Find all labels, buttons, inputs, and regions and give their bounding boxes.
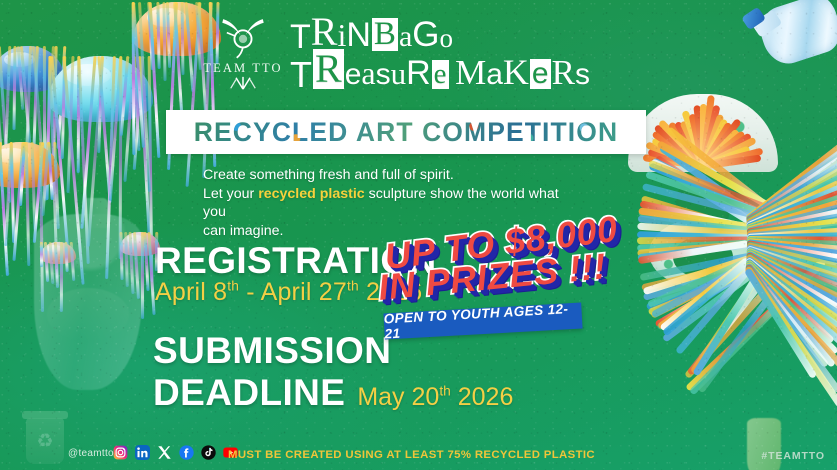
- description-line-2-pre: Let your: [203, 186, 258, 202]
- title-glyph: B: [372, 18, 398, 51]
- plastic-bottle-watermark: [747, 418, 781, 470]
- title-glyph: e: [432, 60, 449, 89]
- submission-date-main: May 20: [357, 383, 439, 411]
- title-glyph: u: [391, 60, 407, 89]
- facebook-icon[interactable]: [179, 445, 194, 460]
- title-glyph: a: [399, 23, 412, 51]
- title-glyph: T: [290, 58, 312, 91]
- social-icons: [113, 445, 238, 460]
- team-tto-logo: TEAM TTO: [200, 16, 286, 90]
- title-glyph: o: [440, 26, 454, 51]
- hashtag-label: #TEAMTTO: [761, 450, 825, 462]
- competition-banner-text: RECYCLED ART COMPETITION: [194, 117, 618, 148]
- submission-date: May 20th 2026: [357, 383, 513, 412]
- title-glyph: s: [575, 61, 590, 89]
- registration-start-suffix: th: [227, 279, 239, 294]
- crushed-bottle-watermark: [34, 214, 142, 390]
- description-highlight: recycled plastic: [258, 186, 364, 202]
- title-line-2: TReasuRe MaKeRs: [290, 49, 620, 89]
- submission-date-year: 2026: [451, 383, 514, 411]
- title-glyph: G: [412, 19, 439, 51]
- tiktok-icon[interactable]: [201, 445, 216, 460]
- title-glyph: s: [376, 61, 391, 89]
- title-glyph: e: [345, 61, 362, 89]
- hummingbird-icon: [216, 16, 270, 60]
- jellyfish-sculpture-artwork: [0, 0, 208, 194]
- grass-icon: [223, 76, 263, 90]
- social-handle: @teamtto: [68, 448, 114, 459]
- requirement-disclaimer: MUST BE CREATED USING AT LEAST 75% RECYC…: [228, 449, 595, 461]
- poster-title: TRiNBaGo TReasuRe MaKeRs: [290, 14, 620, 89]
- title-glyph: R: [313, 49, 344, 89]
- title-glyph: T: [290, 22, 311, 53]
- registration-end-suffix: th: [347, 279, 359, 294]
- recycling-bin-icon: ♻: [26, 418, 64, 464]
- registration-separator: -: [239, 278, 260, 306]
- submission-deadline-row: DEADLINE May 20th 2026: [153, 372, 513, 414]
- title-glyph: a: [361, 59, 375, 88]
- recycle-symbol-icon: ♻: [26, 418, 64, 464]
- title-glyph: N: [346, 20, 371, 51]
- title-glyph: K: [503, 56, 529, 89]
- instagram-icon[interactable]: [113, 445, 128, 460]
- submission-heading-line-2: DEADLINE: [153, 372, 345, 414]
- title-glyph: M: [455, 57, 486, 89]
- title-glyph: R: [406, 58, 431, 89]
- poster: ♻ TEAM TTO TRiNBaGo TReasuRe MaKeRs RECY…: [0, 0, 837, 470]
- linkedin-icon[interactable]: [135, 445, 150, 460]
- registration-start: April 8: [155, 278, 227, 306]
- description-line-3: can imagine.: [203, 223, 283, 239]
- submission-date-suffix: th: [439, 384, 450, 399]
- registration-end: April 27: [261, 278, 347, 306]
- title-glyph: a: [486, 61, 503, 89]
- competition-banner: RECYCLED ART COMPETITION: [166, 110, 646, 154]
- x-icon[interactable]: [157, 445, 172, 460]
- title-glyph: R: [552, 57, 575, 89]
- description-line-1: Create something fresh and full of spiri…: [203, 167, 454, 183]
- submission-heading-line-1: SUBMISSION: [153, 330, 391, 372]
- title-glyph: e: [530, 59, 551, 89]
- logo-text: TEAM TTO: [200, 61, 286, 76]
